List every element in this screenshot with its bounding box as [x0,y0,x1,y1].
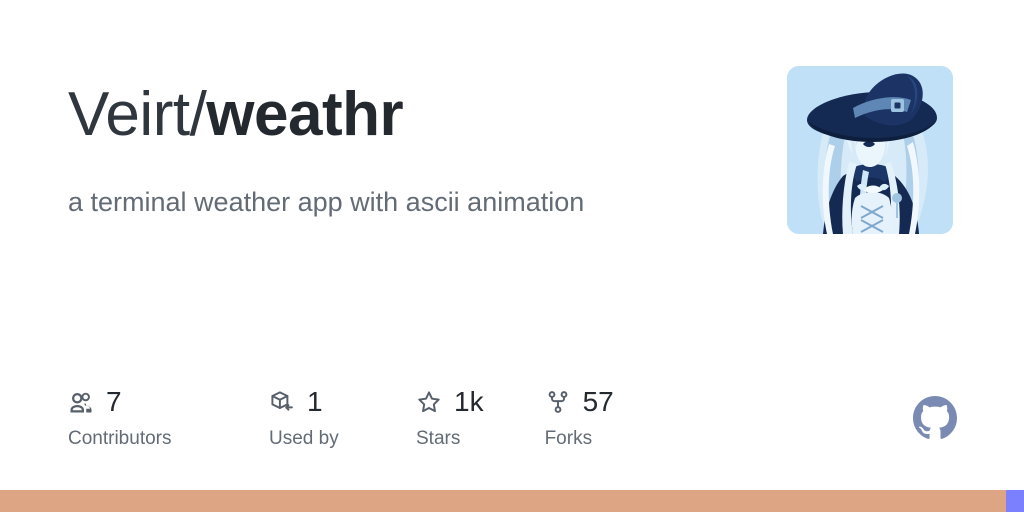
stat-forks-label: Forks [545,427,593,451]
language-segment-secondary [1006,490,1024,512]
stat-forks-value: 57 [583,386,614,418]
repository-title: Veirt/weathr [68,78,403,152]
repository-name: weathr [206,80,403,149]
people-icon [68,389,94,415]
stat-used-by-label: Used by [269,427,339,451]
stat-contributors-label: Contributors [68,427,172,451]
stat-used-by-value: 1 [307,386,323,418]
stat-contributors: 7 Contributors [68,386,208,451]
language-segment-primary [0,490,1006,512]
stat-stars-value: 1k [454,386,484,418]
repo-forked-icon [545,389,571,415]
stat-stars-top: 1k [416,386,484,418]
stat-forks-top: 57 [545,386,614,418]
repository-social-preview-card: Veirt/weathr a terminal weather app with… [0,0,1024,512]
stat-forks: 57 Forks [545,386,614,451]
repository-stats: 7 Contributors 1 Used by [68,386,614,451]
language-bar [0,490,1024,512]
stat-stars-label: Stars [416,427,460,451]
stat-stars: 1k Stars [416,386,484,451]
stat-contributors-top: 7 [68,386,122,418]
owner-avatar [787,66,953,234]
package-dependents-icon [269,389,295,415]
stat-contributors-value: 7 [106,386,122,418]
star-icon [416,389,442,415]
repository-title-separator: / [190,80,207,149]
repository-description: a terminal weather app with ascii animat… [68,185,584,219]
stat-used-by: 1 Used by [269,386,355,451]
repository-owner: Veirt [68,80,190,149]
stat-used-by-top: 1 [269,386,323,418]
github-octocat-icon [913,396,957,440]
